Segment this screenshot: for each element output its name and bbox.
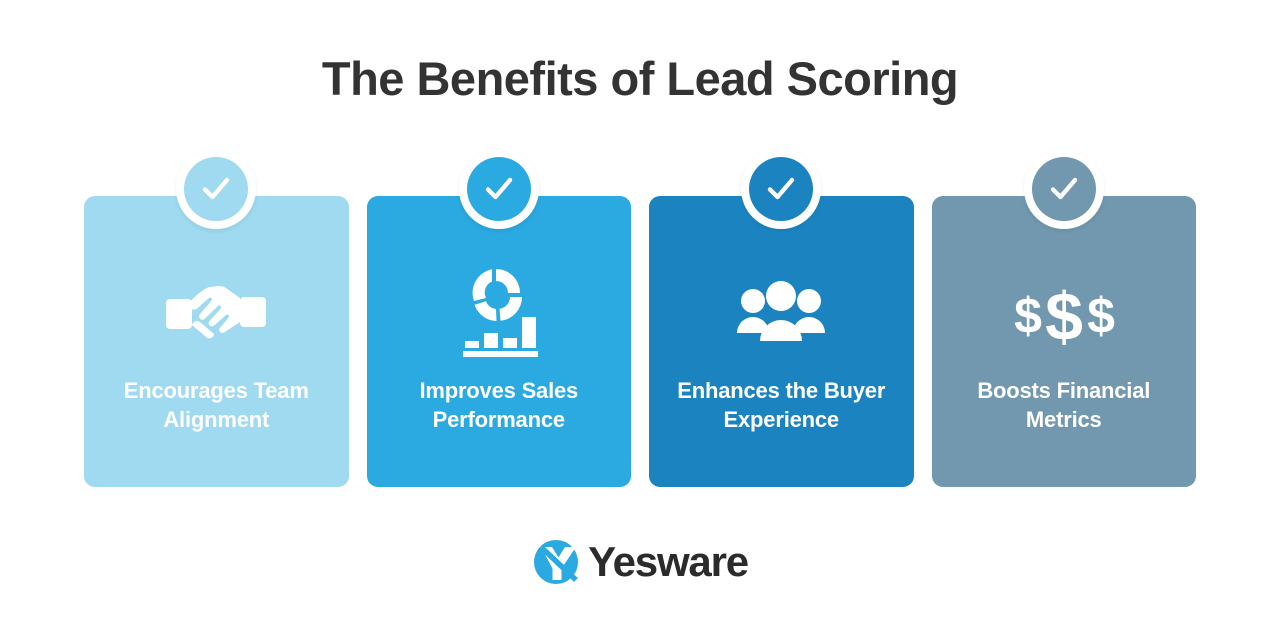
card-icon-area: $ $ $: [932, 258, 1197, 368]
svg-text:$: $: [1045, 279, 1083, 349]
benefit-cards-row: Encourages Team Alignment: [84, 196, 1196, 487]
svg-text:$: $: [1087, 288, 1115, 344]
benefit-card-label: Encourages Team Alignment: [84, 376, 349, 434]
checkmark-icon: [1044, 169, 1084, 209]
check-badge: [1024, 149, 1104, 229]
checkmark-icon: [479, 169, 519, 209]
checkmark-icon: [761, 169, 801, 209]
benefit-card-label: Enhances the Buyer Experience: [649, 376, 914, 434]
infographic-page: The Benefits of Lead Scoring: [0, 0, 1280, 636]
checkmark-icon: [196, 169, 236, 209]
card-icon-area: [84, 258, 349, 368]
yesware-logo-mark-icon: [532, 538, 580, 586]
dollar-signs-icon: $ $ $: [1009, 277, 1119, 349]
page-title: The Benefits of Lead Scoring: [0, 52, 1280, 106]
yesware-logo: Yesware: [0, 538, 1280, 586]
benefit-card-label: Boosts Financial Metrics: [932, 376, 1197, 434]
donut-bar-chart-icon: [453, 267, 545, 359]
card-icon-area: [649, 258, 914, 368]
benefit-card-boosts-financial-metrics[interactable]: $ $ $ Boosts Financial Metrics: [932, 196, 1197, 487]
svg-text:$: $: [1014, 288, 1042, 344]
benefit-card-enhances-buyer-experience[interactable]: Enhances the Buyer Experience: [649, 196, 914, 487]
benefit-card-label: Improves Sales Performance: [367, 376, 632, 434]
benefit-card-improves-sales-performance[interactable]: Improves Sales Performance: [367, 196, 632, 487]
yesware-logo-text: Yesware: [588, 541, 748, 583]
check-badge: [741, 149, 821, 229]
check-badge: [459, 149, 539, 229]
benefit-card-encourages-team-alignment[interactable]: Encourages Team Alignment: [84, 196, 349, 487]
check-badge: [176, 149, 256, 229]
handshake-icon: [164, 281, 268, 345]
card-icon-area: [367, 258, 632, 368]
people-group-icon: [737, 281, 825, 345]
